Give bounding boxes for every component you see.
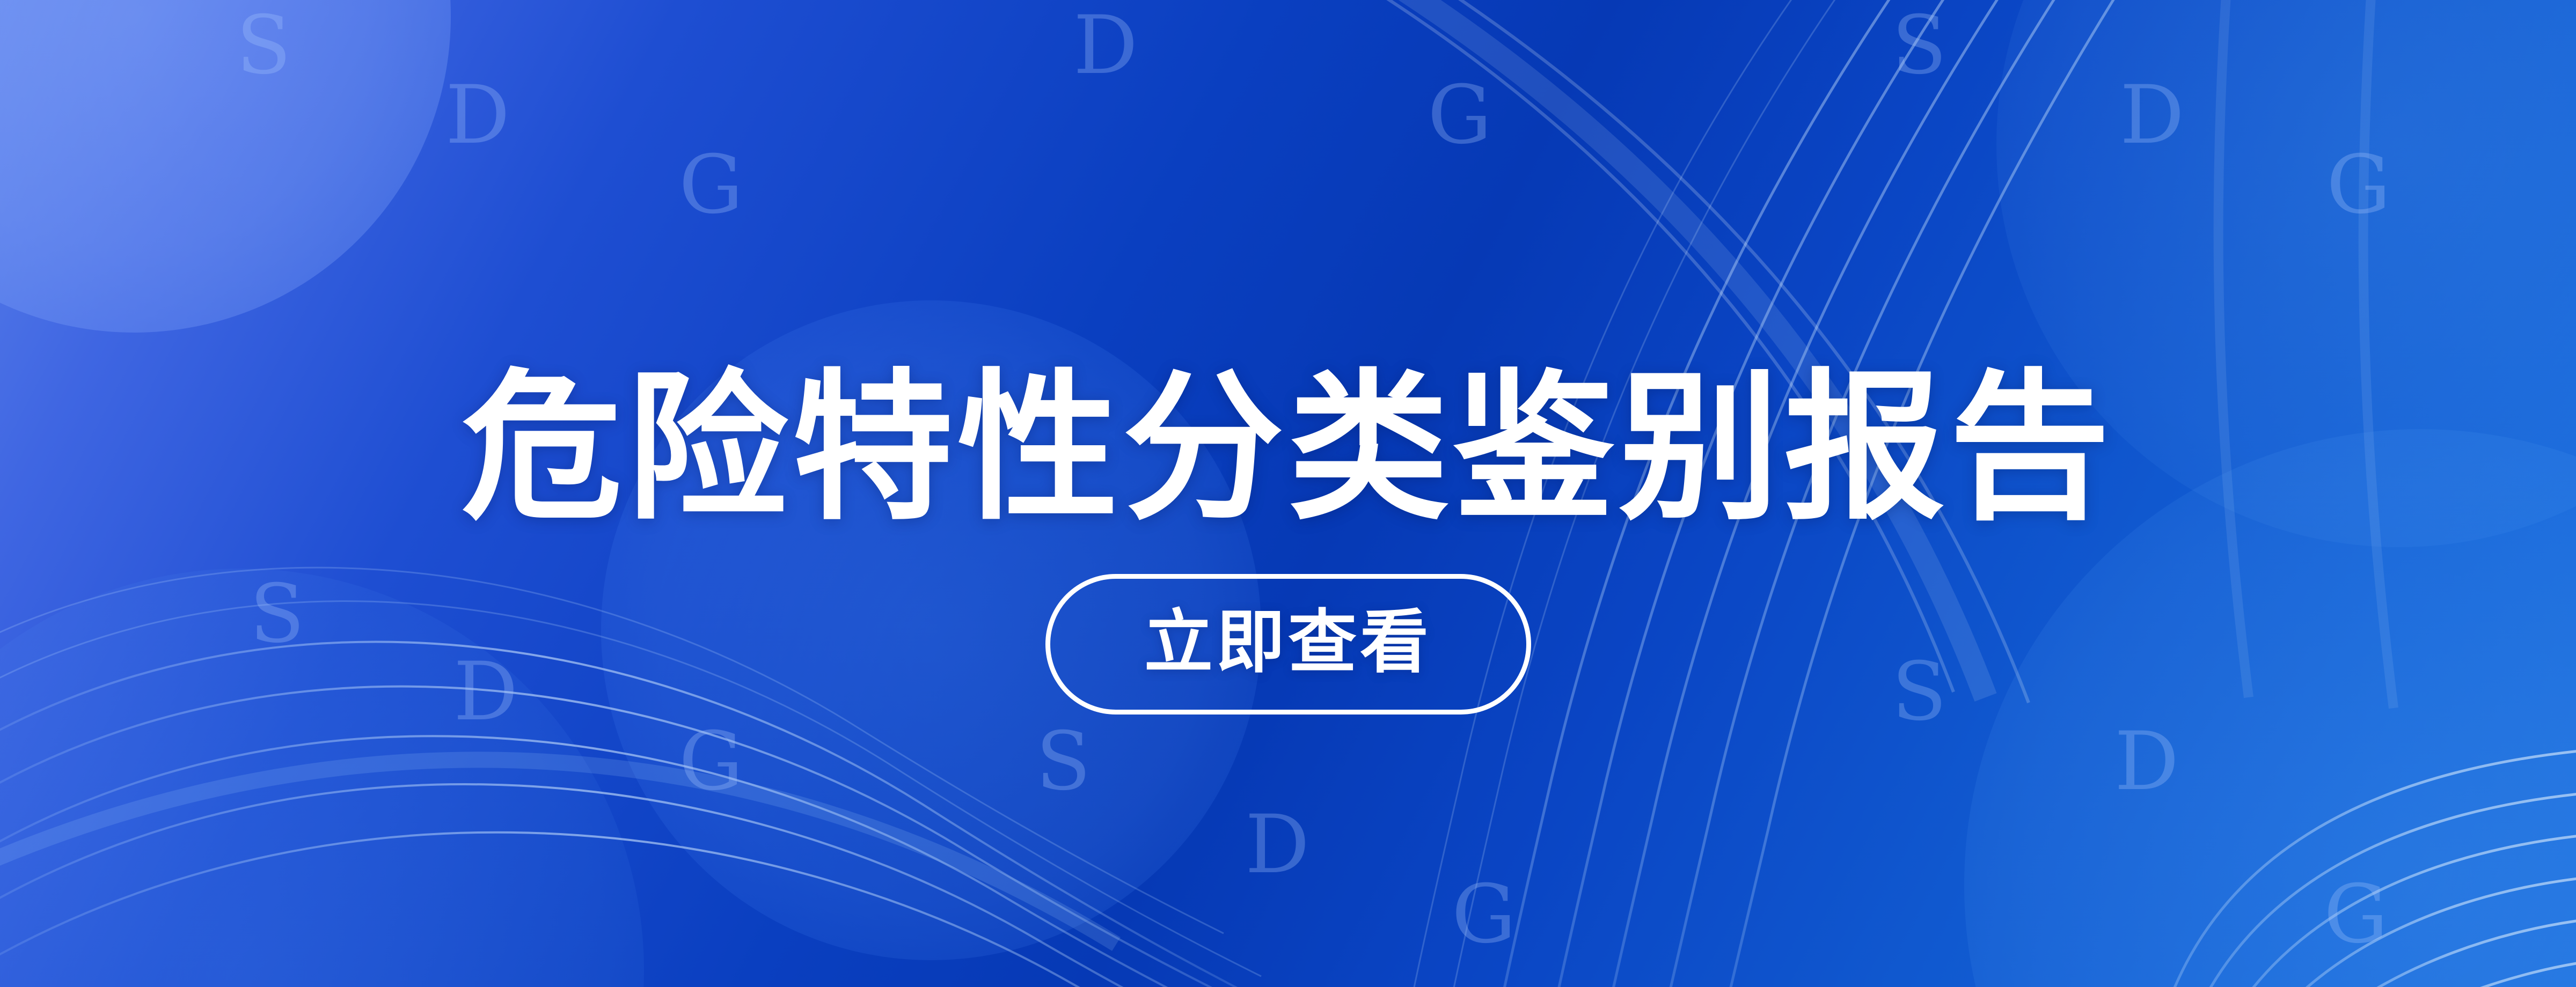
cta-container: 立即查看 [0,574,2576,715]
page-title: 危险特性分类鉴别报告 [0,358,2576,538]
promo-banner: SDSDGDGGSDSGSDDGG 危险特性分类鉴别报告 立即查看 [0,0,2576,987]
banner-content: 危险特性分类鉴别报告 立即查看 [0,0,2576,987]
view-now-button[interactable]: 立即查看 [1045,574,1531,715]
